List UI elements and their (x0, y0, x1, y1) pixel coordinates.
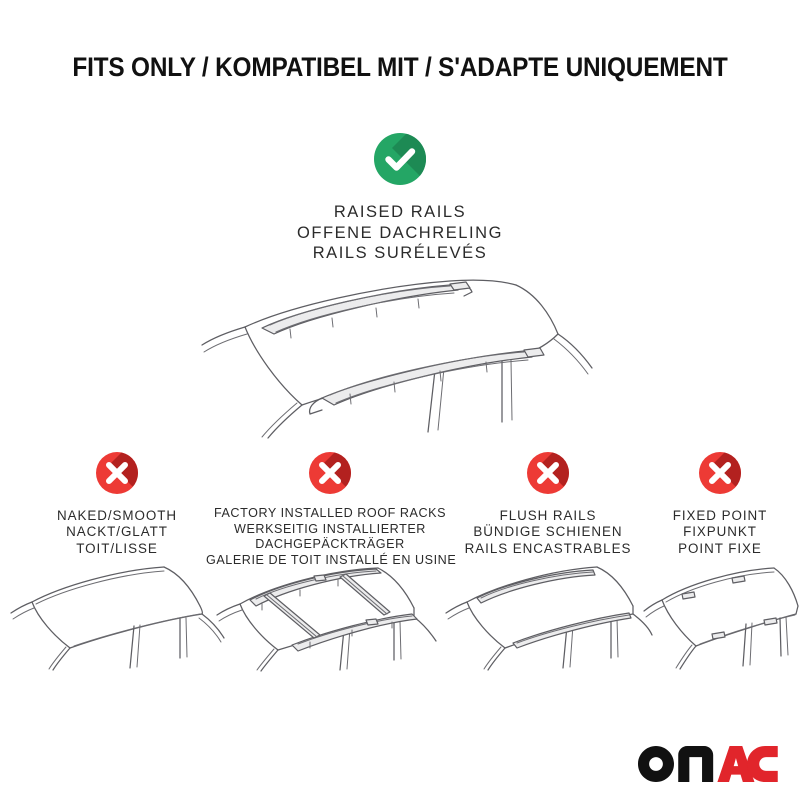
page-title: FITS ONLY / KOMPATIBEL MIT / S'ADAPTE UN… (32, 52, 768, 83)
car-roof-factory-roof-rack-illustration (206, 552, 454, 672)
x-circle-icon (96, 452, 138, 494)
incompatible-caption: FIXED POINT FIXPUNKT POINT FIXE (640, 508, 800, 557)
car-roof-flush-rails-illustration (443, 556, 653, 671)
x-circle-icon (309, 452, 351, 494)
caption-line-de: FIXPUNKT (640, 524, 800, 540)
caption-line-en: FACTORY INSTALLED ROOF RACKS (206, 506, 454, 522)
compatible-caption: RAISED RAILS OFFENE DACHRELING RAILS SUR… (0, 202, 800, 264)
incompatible-caption: NAKED/SMOOTH NACKT/GLATT TOIT/LISSE (6, 508, 228, 557)
caption-line-en: FIXED POINT (640, 508, 800, 524)
incompatible-item-naked-smooth: NAKED/SMOOTH NACKT/GLATT TOIT/LISSE (6, 452, 228, 557)
incompatible-item-factory-roof-rack: FACTORY INSTALLED ROOF RACKS WERKSEITIG … (206, 452, 454, 568)
x-circle-icon (527, 452, 569, 494)
compatibility-infographic: FITS ONLY / KOMPATIBEL MIT / S'ADAPTE UN… (0, 0, 800, 800)
caption-line-de: BÜNDIGE SCHIENEN (443, 524, 653, 540)
compatible-line-en: RAISED RAILS (0, 202, 800, 223)
caption-line-fr: TOIT/LISSE (6, 541, 228, 557)
car-roof-naked-smooth-illustration (6, 556, 228, 671)
car-roof-fixed-point-illustration (640, 556, 800, 671)
caption-line-fr: RAILS ENCASTRABLES (443, 541, 653, 557)
caption-line-en: FLUSH RAILS (443, 508, 653, 524)
logo-letter-o (638, 746, 674, 782)
caption-line-fr: POINT FIXE (640, 541, 800, 557)
check-circle-icon (374, 133, 426, 185)
x-circle-icon (699, 452, 741, 494)
incompatible-item-fixed-point: FIXED POINT FIXPUNKT POINT FIXE (640, 452, 800, 557)
incompatible-item-flush-rails: FLUSH RAILS BÜNDIGE SCHIENEN RAILS ENCAS… (443, 452, 653, 557)
caption-line-de: NACKT/GLATT (6, 524, 228, 540)
caption-line-en: NAKED/SMOOTH (6, 508, 228, 524)
compatible-section: RAISED RAILS OFFENE DACHRELING RAILS SUR… (0, 133, 800, 264)
compatible-line-de: OFFENE DACHRELING (0, 223, 800, 244)
caption-line-de-2: DACHGEPÄCKTRÄGER (206, 537, 454, 553)
incompatible-caption: FLUSH RAILS BÜNDIGE SCHIENEN RAILS ENCAS… (443, 508, 653, 557)
caption-line-de-1: WERKSEITIG INSTALLIERTER (206, 522, 454, 538)
omac-logo (638, 746, 778, 782)
compatible-line-fr: RAILS SURÉLEVÉS (0, 243, 800, 264)
car-roof-raised-rails-illustration (150, 272, 650, 457)
incompatible-sections: NAKED/SMOOTH NACKT/GLATT TOIT/LISSE (0, 452, 800, 692)
logo-letter-m (678, 746, 713, 782)
